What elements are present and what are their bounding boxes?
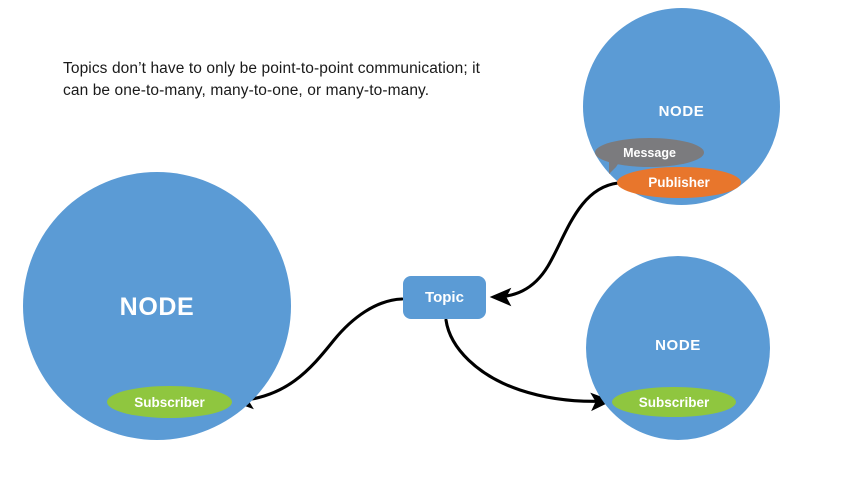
subscriber-left[interactable]: Subscriber	[107, 386, 232, 418]
node-left-label: NODE	[23, 293, 291, 322]
diagram-canvas: Topics don’t have to only be point-to-po…	[0, 0, 854, 480]
message-bubble[interactable]: Message	[595, 138, 704, 167]
node-bottomright-label: NODE	[586, 337, 770, 354]
subscriber-bottomright[interactable]: Subscriber	[612, 387, 736, 417]
caption-text: Topics don’t have to only be point-to-po…	[63, 58, 493, 103]
edge-topic-to-subscriber-bottomright	[446, 320, 608, 401]
publisher-topright[interactable]: Publisher	[617, 167, 741, 198]
node-topright-label: NODE	[583, 103, 780, 120]
topic-box[interactable]: Topic	[403, 276, 486, 319]
edge-publisher-to-topic	[494, 183, 618, 297]
